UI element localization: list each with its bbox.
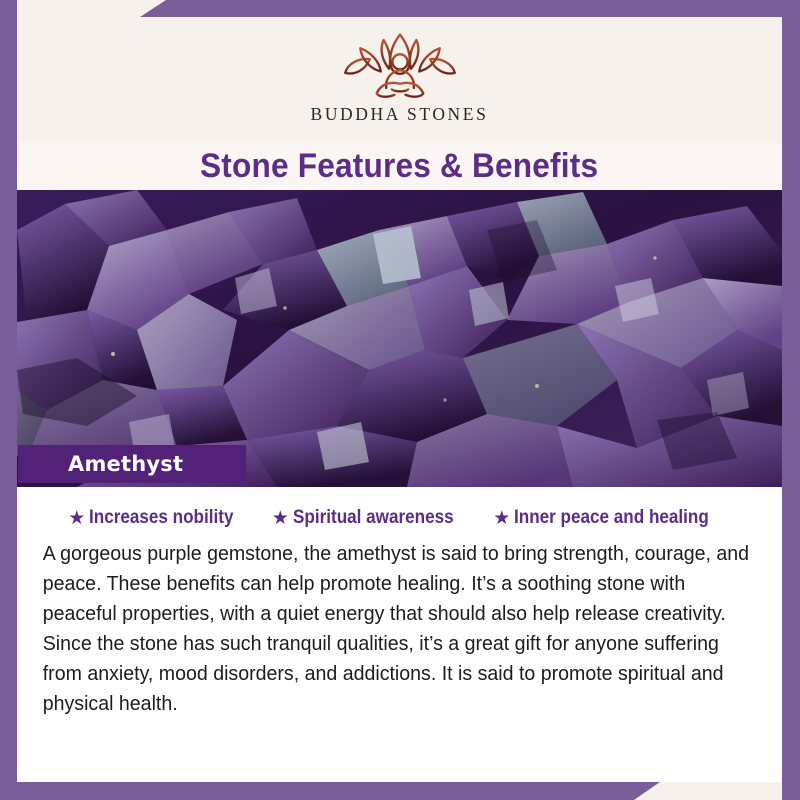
- page-title: Stone Features & Benefits: [200, 147, 598, 186]
- brand-header: BUDDHA STONES: [17, 17, 782, 143]
- content-canvas: BUDDHA STONES Stone Features & Benefits: [17, 17, 782, 782]
- stone-name-label: Amethyst: [68, 452, 183, 476]
- brand-wordmark: BUDDHA STONES: [311, 104, 489, 125]
- feature-item-2: ★ Spiritual awareness: [272, 507, 472, 529]
- star-icon: ★: [68, 509, 85, 528]
- frame-border-bottom: [0, 782, 660, 800]
- frame-border-top: [140, 0, 800, 17]
- feature-label-2: Spiritual awareness: [293, 507, 454, 529]
- feature-list: ★ Increases nobility ★ Spiritual awarene…: [37, 487, 762, 537]
- amethyst-crystal-cluster-photo: [17, 190, 782, 487]
- hero-image: Amethyst: [17, 190, 782, 487]
- feature-label-1: Increases nobility: [89, 507, 233, 529]
- frame-border-left: [0, 0, 17, 800]
- stone-details-section: ★ Increases nobility ★ Spiritual awarene…: [17, 487, 782, 782]
- frame-border-right: [782, 0, 800, 800]
- lotus-meditation-figure-icon: [316, 29, 484, 103]
- feature-item-1: ★ Increases nobility: [68, 507, 250, 529]
- infographic-page: BUDDHA STONES Stone Features & Benefits: [0, 0, 800, 800]
- stone-description: A gorgeous purple gemstone, the amethyst…: [37, 537, 757, 719]
- star-icon: ★: [272, 509, 289, 528]
- feature-label-3: Inner peace and healing: [514, 507, 709, 529]
- stone-name-banner: Amethyst: [18, 445, 246, 483]
- star-icon: ★: [493, 509, 510, 528]
- feature-item-3: ★ Inner peace and healing: [493, 507, 731, 529]
- title-bar: Stone Features & Benefits: [17, 143, 782, 190]
